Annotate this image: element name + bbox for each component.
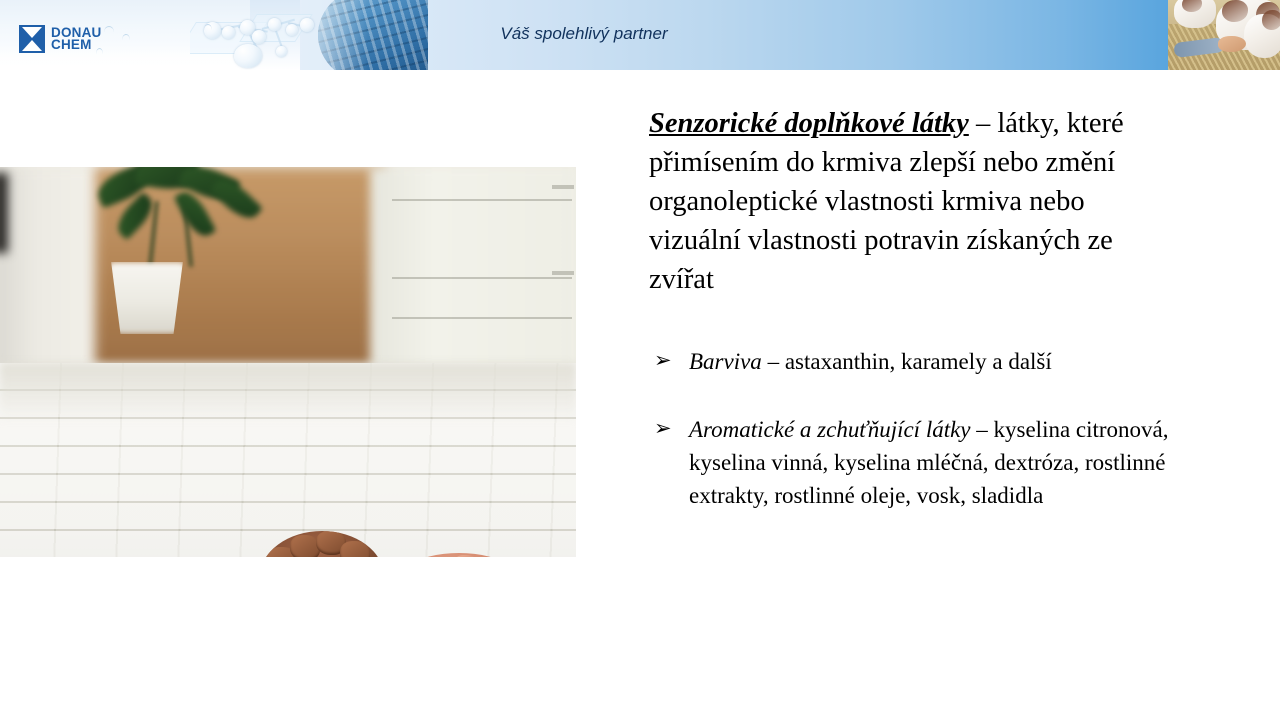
arrowhead-bullet-icon: ➢ <box>654 344 672 377</box>
cows-feeding-photo <box>1168 0 1280 70</box>
list-item: ➢ Barviva – astaxanthin, karamely a dalš… <box>649 345 1179 378</box>
bullet-emphasis: Barviva <box>689 349 762 374</box>
slide-content: Senzorické doplňkové látky – látky, kter… <box>649 104 1179 512</box>
lead-paragraph: Senzorické doplňkové látky – látky, kter… <box>649 104 1179 299</box>
header-tagline: Váš spolehlivý partner <box>0 24 1168 44</box>
bullet-rest: – astaxanthin, karamely a další <box>762 349 1052 374</box>
bullet-list: ➢ Barviva – astaxanthin, karamely a dalš… <box>649 345 1179 512</box>
arrowhead-bullet-icon: ➢ <box>654 412 672 445</box>
lead-emphasis: Senzorické doplňkové látky <box>649 108 969 139</box>
bullet-emphasis: Aromatické a zchuťňující látky <box>689 417 971 442</box>
list-item: ➢ Aromatické a zchuťňující látky – kysel… <box>649 413 1179 512</box>
pet-food-bowls-photo <box>0 167 576 557</box>
page-header: DONAU CHEM Váš spolehlivý partner <box>0 0 1280 70</box>
